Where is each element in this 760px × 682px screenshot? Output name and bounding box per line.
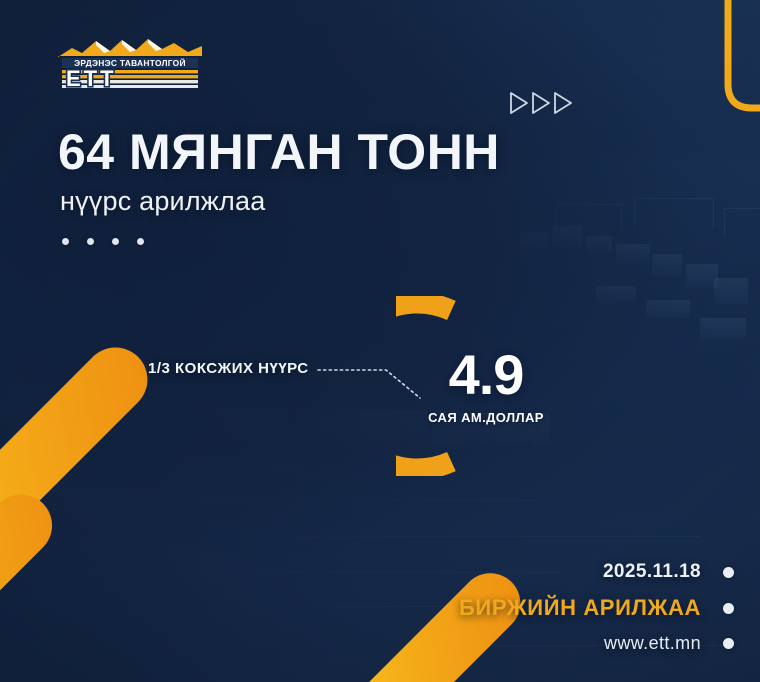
footer-headline: БИРЖИЙН АРИЛЖАА: [459, 595, 701, 621]
mountain-range-icon: [58, 39, 202, 57]
page-subtitle: нүүрс арилжлаа: [60, 186, 265, 217]
footer-bullet-dot: [723, 603, 734, 614]
footer-bullet-dot: [723, 638, 734, 649]
footer-row-date: 2025.11.18: [459, 561, 734, 583]
metric-donut: 4.9 САЯ АМ.ДОЛЛАР: [396, 296, 576, 476]
footer-website: www.ett.mn: [604, 633, 701, 654]
separator-dot: [137, 238, 144, 245]
separator-dot: [62, 238, 69, 245]
footer-date: 2025.11.18: [603, 561, 701, 583]
footer-row-headline: БИРЖИЙН АРИЛЖАА: [459, 595, 734, 621]
callout-label: 1/3 КОКСЖИХ НҮҮРС: [148, 360, 309, 377]
footer-row-website: www.ett.mn: [459, 633, 734, 654]
separator-dots: [62, 238, 144, 245]
footer-bullet-dot: [723, 567, 734, 578]
gold-corner-hook-icon: [680, 0, 760, 126]
logo-abbreviation-text: ETT: [66, 66, 117, 90]
separator-dot: [112, 238, 119, 245]
ett-logo: ЭРДЭНЭС ТАВАНТОЛГОЙ ETT: [56, 36, 204, 90]
separator-dot: [87, 238, 94, 245]
donut-ring-icon: [396, 296, 576, 476]
infographic-poster: ЭРДЭНЭС ТАВАНТОЛГОЙ ETT 64 МЯНГАН ТОНН н…: [0, 0, 760, 682]
triple-chevron-right-icon: [508, 90, 580, 116]
page-title: 64 МЯНГАН ТОНН: [58, 126, 500, 179]
footer: 2025.11.18 БИРЖИЙН АРИЛЖАА www.ett.mn: [459, 561, 734, 654]
